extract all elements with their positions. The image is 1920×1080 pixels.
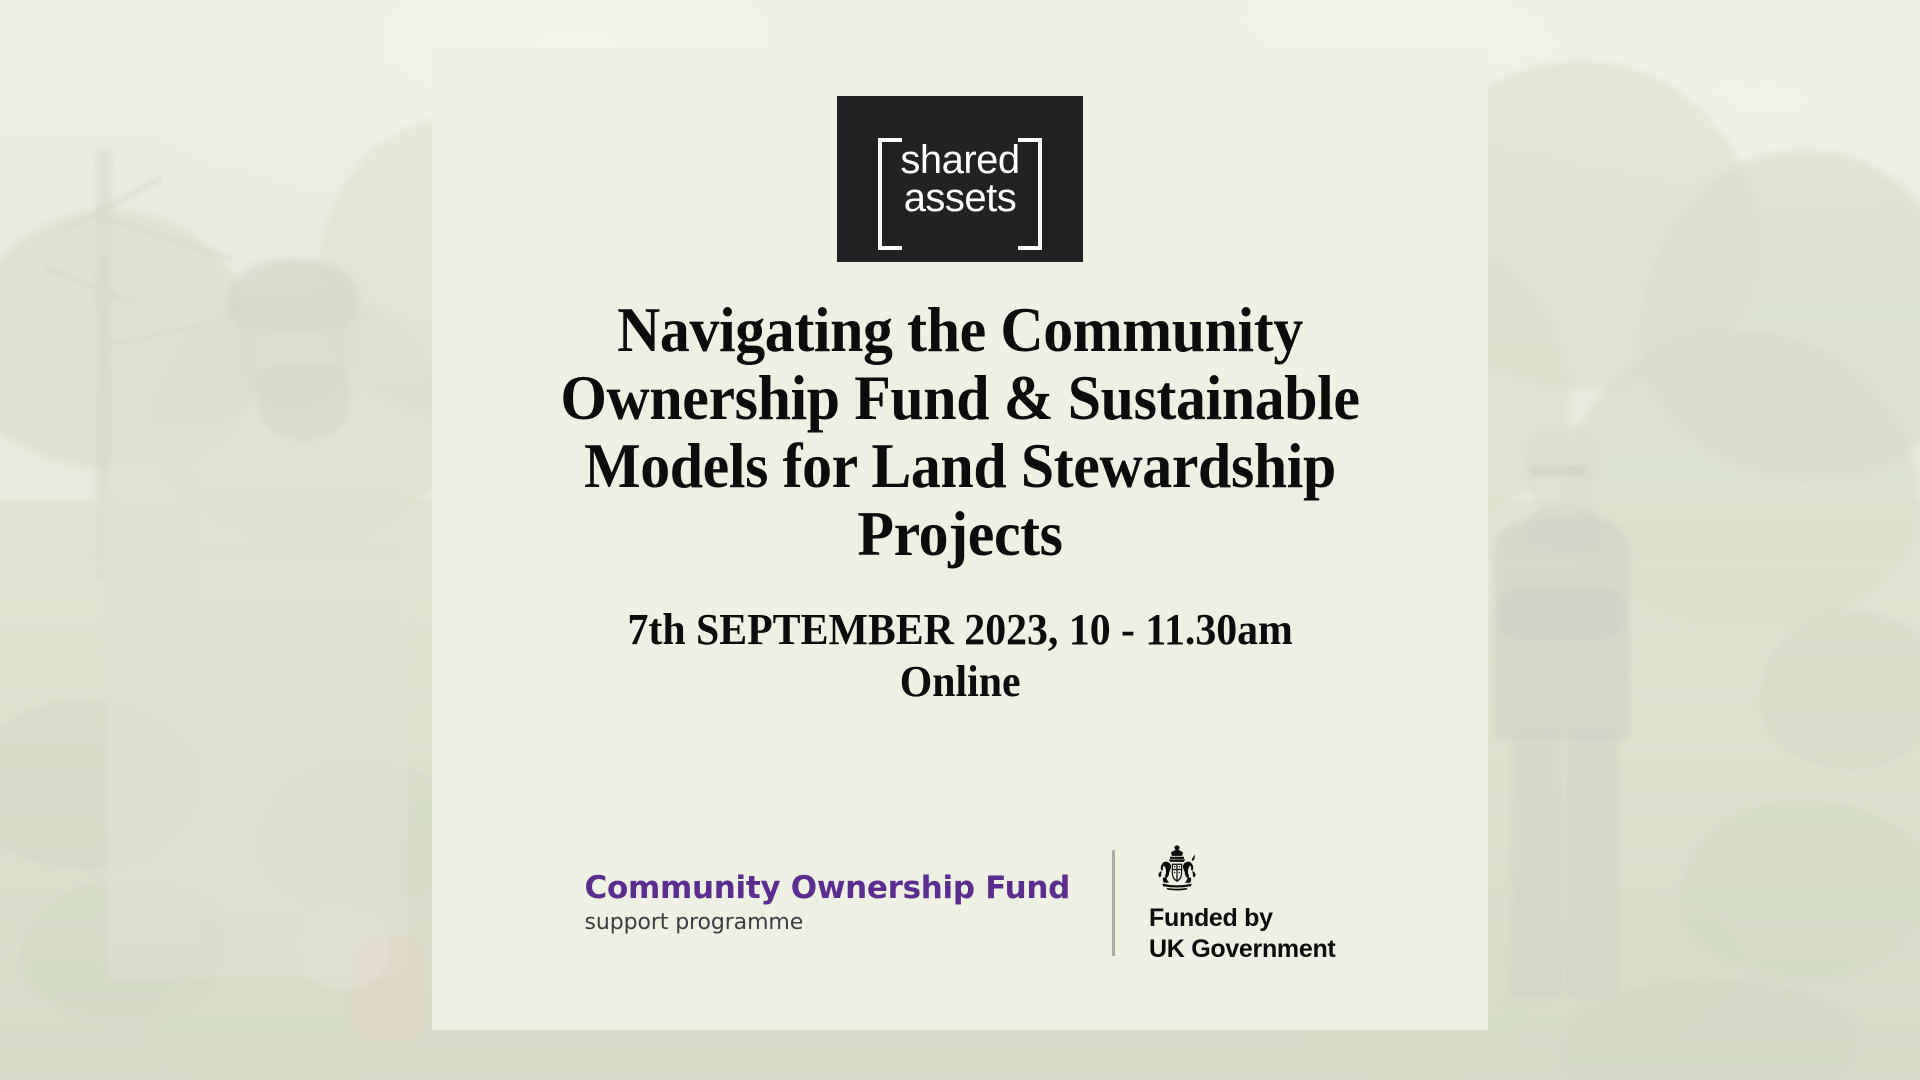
event-location: Online [627,656,1292,708]
community-ownership-fund-logo: Community Ownership Fund support program… [585,871,1113,935]
event-details: 7th SEPTEMBER 2023, 10 - 11.30am Online [627,604,1292,708]
funded-by-line-1: Funded by [1149,903,1273,934]
logo-brackets-icon: shared assets [878,141,1041,218]
man-beard [256,362,352,440]
logo-line-1: shared [900,141,1019,179]
funded-by-line-2: UK Government [1149,934,1335,965]
woman-leg-right [1566,730,1618,998]
royal-coat-of-arms-icon [1149,842,1205,894]
shared-assets-logo: shared assets [837,96,1083,262]
woman-leg-left [1512,730,1562,998]
poster-canvas: shared assets Navigating the Community O… [0,0,1920,1080]
uk-government-logo: Funded by UK Government [1115,842,1335,964]
cof-subtitle: support programme [585,910,804,935]
man-hand [300,905,390,991]
logo-line-2: assets [900,179,1019,217]
man-arm [104,470,196,940]
logo-wordmark: shared assets [900,141,1019,218]
event-title: Navigating the Community Ownership Fund … [542,296,1378,568]
event-date: 7th SEPTEMBER 2023, 10 - 11.30am [627,604,1292,656]
woman-crossed-arms [1498,588,1624,640]
glasses-icon [1530,466,1586,476]
funder-logos: Community Ownership Fund support program… [585,842,1336,1000]
event-card: shared assets Navigating the Community O… [432,48,1488,1030]
foliage-blob [1680,800,1920,980]
cof-title: Community Ownership Fund [585,871,1071,906]
